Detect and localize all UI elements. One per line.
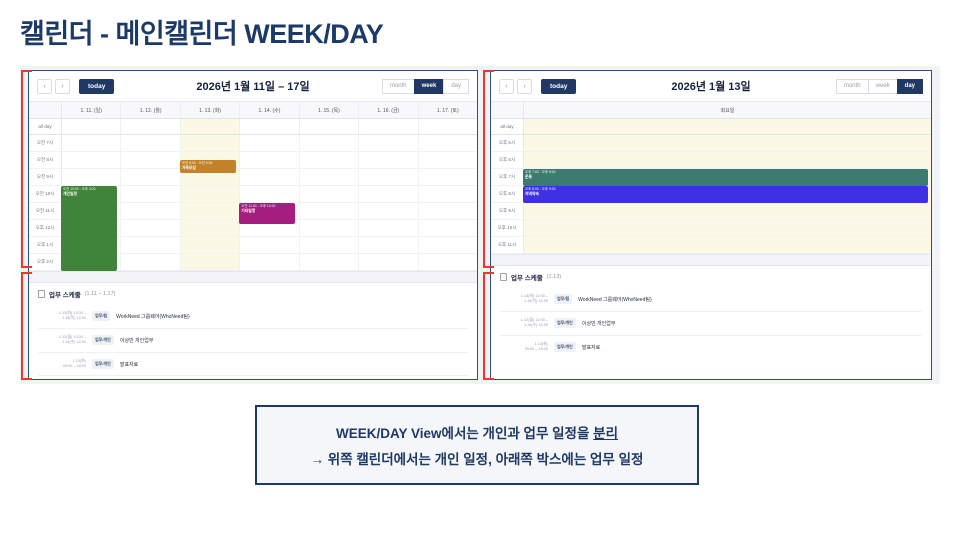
time-slot-cell[interactable] [300,237,359,253]
day-header[interactable]: 1. 17. (토) [419,102,477,118]
task-time: 1.13(화)09:00 – 18:00 [500,342,548,353]
time-slot-label: 오후 7시 [491,169,524,185]
calendar-event[interactable]: 오후 7:00 - 오후 8:00운동 [523,169,928,186]
time-slot-cell[interactable] [419,203,477,219]
view-month-button[interactable]: month [836,79,869,94]
screenshot-band: ‹ › today 2026년 1월 11일 – 17일 month week … [20,66,940,384]
time-slot-label: 오후 9시 [491,203,524,219]
view-week-button[interactable]: week [868,79,898,94]
clipboard-icon [38,290,45,298]
time-slot-label: 오후 6시 [491,152,524,168]
task-title: 이상민 개인업무 [582,320,616,327]
time-slot-cell[interactable] [359,152,418,168]
time-slot-cell[interactable] [359,203,418,219]
task-time: 1.12(월) 12:00 –1.14(수) 12:00 [38,335,86,346]
time-slot-cell[interactable] [240,237,299,253]
time-slot-cell[interactable] [300,254,359,270]
task-title: 발표자료 [120,361,138,368]
time-slot-cell[interactable] [121,152,180,168]
right-view-switcher: month week day [837,79,923,94]
time-slot-row: 오후 6시 [491,152,931,169]
right-task-schedule: 업무 스케줄 (1.13) 1.13(화) 12:00 –1.15(목) 12:… [491,266,931,358]
time-slot-cell[interactable] [419,169,477,185]
event-title: 기타일정 [241,209,293,214]
right-allday-row: all-day [491,119,931,135]
allday-cell-today[interactable] [524,119,931,134]
caption-line-1: WEEK/DAY View에서는 개인과 업무 일정을 분리 [336,422,618,442]
allday-cell[interactable] [419,119,477,134]
annotation-bracket-right-calendar [483,70,485,268]
time-slot-row: 오전 9시 [29,169,477,186]
event-title: 개인일정 [63,192,115,197]
allday-cell[interactable] [121,119,180,134]
left-nav-group: ‹ › today [37,79,114,94]
task-title: WorkNeed 그룹웨어(WhoNeed팀) [578,296,651,303]
next-button[interactable]: › [517,79,532,94]
day-header[interactable]: 1. 11. (일) [62,102,121,118]
time-slot-cell-today[interactable] [181,203,240,219]
time-slot-label: 오전 7시 [29,135,62,151]
prev-button[interactable]: ‹ [37,79,52,94]
time-slot-label: 오전 11시 [29,203,62,219]
time-slot-label: 오후 5시 [491,135,524,151]
allday-cell-today[interactable] [181,119,240,134]
time-slot-cell[interactable] [359,220,418,236]
time-slot-cell-today[interactable] [524,152,931,168]
prev-button[interactable]: ‹ [499,79,514,94]
event-time: 오후 7:00 - 오후 8:00 [525,170,926,175]
time-slot-cell[interactable] [240,152,299,168]
right-nav-group: ‹ › today [499,79,576,94]
left-task-header: 업무 스케줄 (1.11 – 1.17) [38,289,468,299]
task-heading: 업무 스케줄 [49,289,81,299]
day-header[interactable]: 1. 13. (화) [181,102,240,118]
day-header[interactable]: 1. 15. (목) [300,102,359,118]
time-slot-cell-today[interactable] [524,203,931,219]
task-title: 발표자료 [582,344,600,351]
time-slot-row: 오후 5시 [491,135,931,152]
task-row[interactable]: 1.12(월) 12:00 –1.14(수) 12:00업무/개인이상민 개인업… [500,312,922,336]
calendar-event[interactable]: 오전 11:00 - 오후 12:00기타일정 [239,203,295,224]
caption-line-2: → 위쪽 캘린더에서는 개인 일정, 아래쪽 박스에는 업무 일정 [311,448,644,468]
task-time: 1.13(화)09:00 – 18:00 [38,359,86,370]
task-time: 1.13(화) 12:00 –1.15(목) 12:00 [500,294,548,305]
event-title: 운동 [525,175,926,180]
left-allday-row: all-day [29,119,477,135]
left-calendar-body: 1. 11. (일) 1. 12. (월) 1. 13. (화) 1. 14. … [29,101,477,271]
task-time: 1.12(월) 12:00 –1.14(수) 12:00 [500,318,548,329]
page-title: 캘린더 - 메인캘린더 WEEK/DAY [20,12,383,51]
time-slot-cell[interactable] [62,169,121,185]
task-heading: 업무 스케줄 [511,272,543,282]
view-month-button[interactable]: month [382,79,415,94]
time-slot-cell[interactable] [121,203,180,219]
time-slot-cell[interactable] [359,254,418,270]
time-slot-cell[interactable] [359,135,418,151]
task-range: (1.11 – 1.17) [85,291,116,297]
today-button[interactable]: today [79,79,114,94]
left-day-header-row: 1. 11. (일) 1. 12. (월) 1. 13. (화) 1. 14. … [29,101,477,119]
time-slot-cell[interactable] [419,135,477,151]
time-slot-label: 오후 10시 [491,220,524,236]
left-section-divider [29,271,477,283]
task-title: 이상민 개인업무 [120,337,154,344]
time-slot-cell[interactable] [121,254,180,270]
time-slot-cell[interactable] [300,152,359,168]
allday-label: all-day [29,119,62,134]
allday-cell[interactable] [240,119,299,134]
task-row[interactable]: 1.12(월) 12:00 –1.14(수) 12:00업무/개인이상민 개인업… [38,329,468,353]
time-slot-cell[interactable] [419,186,477,202]
annotation-bracket-left-tasks [21,272,23,380]
calendar-event[interactable]: 오전 8:30 - 오전 9:30가족모임 [180,160,236,173]
time-slot-row: 오후 9시 [491,203,931,220]
time-slot-label: 오후 11시 [491,237,524,253]
today-button[interactable]: today [541,79,576,94]
week-view-panel: ‹ › today 2026년 1월 11일 – 17일 month week … [28,70,478,380]
time-slot-cell[interactable] [419,254,477,270]
caption-box: WEEK/DAY View에서는 개인과 업무 일정을 분리 → 위쪽 캘린더에… [255,405,699,485]
time-slot-cell[interactable] [359,169,418,185]
allday-label: all-day [491,119,524,134]
caption-text-a: WEEK/DAY View에서는 개인과 업무 일정을 [336,426,593,441]
time-slot-cell-today[interactable] [181,237,240,253]
time-slot-cell[interactable] [419,152,477,168]
gutter-spacer [29,102,62,118]
task-category-badge: 업무/개인 [554,342,576,352]
allday-cell[interactable] [62,119,121,134]
left-task-schedule: 업무 스케줄 (1.11 – 1.17) 1.13(화) 12:00 –1.15… [29,283,477,380]
time-slot-label: 오후 8시 [491,186,524,202]
right-calendar-toolbar: ‹ › today 2026년 1월 13일 month week day [491,71,931,101]
right-task-header: 업무 스케줄 (1.13) [500,272,922,282]
day-header[interactable]: 1. 14. (수) [240,102,299,118]
event-time: 오전 10:00 - 오후 3:00 [63,187,115,192]
event-time: 오전 11:00 - 오후 12:00 [241,204,293,209]
time-slot-label: 오전 9시 [29,169,62,185]
view-day-button[interactable]: day [897,79,923,94]
day-header[interactable]: 1. 16. (금) [359,102,418,118]
time-slot-cell[interactable] [300,169,359,185]
time-slot-cell[interactable] [240,186,299,202]
time-slot-cell[interactable] [359,237,418,253]
time-slot-label: 오전 8시 [29,152,62,168]
right-calendar-body: 화요일 all-day 오후 5시오후 6시오후 7시오후 8시오후 9시오후 … [491,101,931,254]
time-slot-cell[interactable] [419,237,477,253]
time-slot-cell-today[interactable] [524,237,931,253]
day-view-panel: ‹ › today 2026년 1월 13일 month week day 화요… [490,70,932,380]
event-title: 저녁약속 [525,192,926,197]
gutter-spacer [491,102,524,118]
time-slot-row: 오전 7시 [29,135,477,152]
task-category-badge: 업무/개인 [92,335,114,345]
time-slot-cell[interactable] [62,135,121,151]
time-slot-cell-today[interactable] [524,135,931,151]
time-slot-cell-today[interactable] [181,186,240,202]
time-slot-cell[interactable] [121,135,180,151]
time-slot-cell[interactable] [121,169,180,185]
time-slot-cell[interactable] [300,186,359,202]
day-header[interactable]: 1. 12. (월) [121,102,180,118]
time-slot-cell[interactable] [240,254,299,270]
time-slot-cell-today[interactable] [181,135,240,151]
time-slot-cell[interactable] [359,186,418,202]
calendar-event[interactable]: 오후 8:00 - 오후 9:00저녁약속 [523,186,928,203]
day-header[interactable]: 화요일 [524,102,931,118]
task-category-badge: 업무/팀 [92,311,110,321]
time-slot-cell[interactable] [240,169,299,185]
task-row[interactable]: 1.13(화)09:00 – 18:00업무/개인발표자료 [500,336,922,359]
allday-cell[interactable] [300,119,359,134]
task-row[interactable]: 1.15(목)12:00 – 13:00업무/팀WhoNeed Team 정기 … [38,376,468,380]
time-slot-row: 오전 8시 [29,152,477,169]
allday-cell[interactable] [359,119,418,134]
time-slot-row: 오후 11시 [491,237,931,254]
time-slot-cell-today[interactable] [181,254,240,270]
left-view-switcher: month week day [383,79,469,94]
left-time-grid: 오전 7시오전 8시오전 9시오전 10시오전 11시오후 12시오후 1시오후… [29,135,477,271]
task-title: WorkNeed 그룹웨어(WhoNeed팀) [116,313,189,320]
time-slot-row: 오후 10시 [491,220,931,237]
time-slot-cell[interactable] [121,186,180,202]
left-calendar-toolbar: ‹ › today 2026년 1월 11일 – 17일 month week … [29,71,477,101]
next-button[interactable]: › [55,79,70,94]
event-title: 가족모임 [182,166,234,171]
task-category-badge: 업무/팀 [554,294,572,304]
time-slot-cell-today[interactable] [181,220,240,236]
caption-text-underline: 분리 [593,426,618,441]
view-day-button[interactable]: day [443,79,469,94]
time-slot-cell[interactable] [240,135,299,151]
task-time: 1.13(화) 12:00 –1.15(목) 12:00 [38,311,86,322]
time-slot-cell[interactable] [300,220,359,236]
time-slot-label: 오전 10시 [29,186,62,202]
task-range: (1.13) [547,274,561,280]
time-slot-cell[interactable] [121,220,180,236]
event-time: 오후 8:00 - 오후 9:00 [525,187,926,192]
time-slot-cell[interactable] [121,237,180,253]
annotation-bracket-right-tasks [483,272,485,380]
view-week-button[interactable]: week [414,79,445,94]
time-slot-label: 오후 2시 [29,254,62,270]
calendar-event[interactable]: 오전 10:00 - 오후 3:00개인일정 [61,186,117,271]
event-time: 오전 8:30 - 오전 9:30 [182,161,234,166]
task-row[interactable]: 1.13(화) 12:00 –1.15(목) 12:00업무/팀WorkNeed… [500,288,922,312]
task-category-badge: 업무/개인 [554,318,576,328]
time-slot-cell[interactable] [419,220,477,236]
task-row[interactable]: 1.13(화)09:00 – 18:00업무/개인발표자료 [38,353,468,377]
time-slot-cell[interactable] [300,203,359,219]
time-slot-label: 오후 1시 [29,237,62,253]
annotation-bracket-left-calendar [21,70,23,268]
clipboard-icon [500,273,507,281]
task-category-badge: 업무/개인 [92,359,114,369]
task-row[interactable]: 1.13(화) 12:00 –1.15(목) 12:00업무/팀WorkNeed… [38,305,468,329]
time-slot-cell[interactable] [300,135,359,151]
time-slot-label: 오후 12시 [29,220,62,236]
time-slot-cell[interactable] [62,152,121,168]
right-section-divider [491,254,931,266]
right-day-header-row: 화요일 [491,101,931,119]
right-time-grid: 오후 5시오후 6시오후 7시오후 8시오후 9시오후 10시오후 11시 오후… [491,135,931,254]
time-slot-cell-today[interactable] [524,220,931,236]
